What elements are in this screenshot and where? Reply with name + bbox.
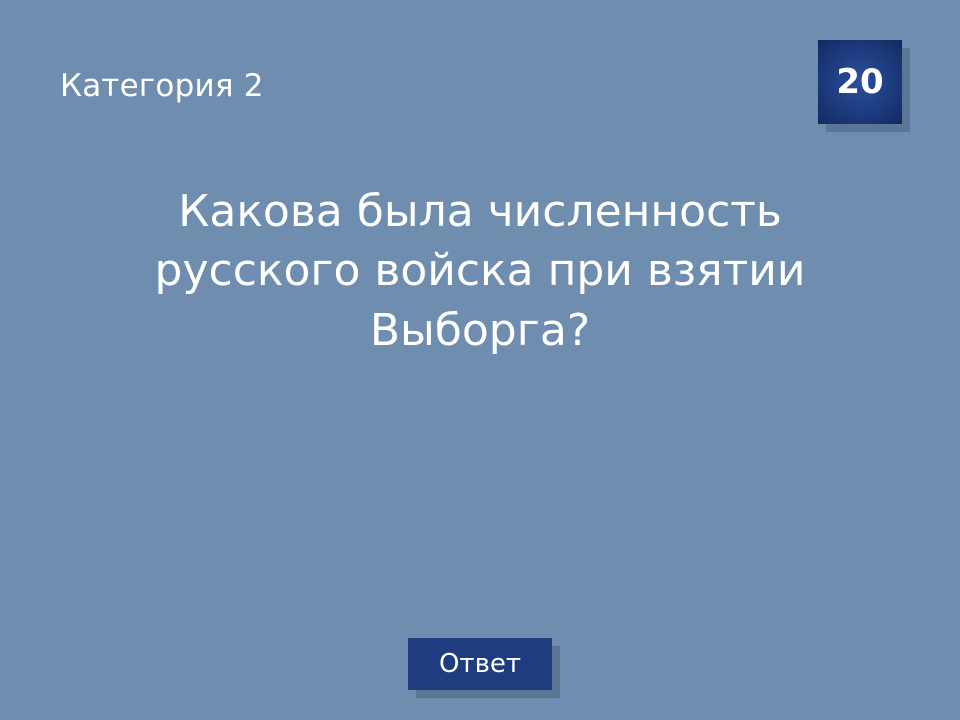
answer-button-wrapper: Ответ: [408, 638, 568, 700]
points-badge-box: 20: [818, 40, 902, 124]
question-text: Какова была численность русского войска …: [90, 182, 870, 360]
points-badge: 20: [818, 40, 910, 132]
answer-button-label: Ответ: [439, 651, 521, 677]
quiz-slide: Категория 2 20 Какова была численность р…: [0, 0, 960, 720]
category-title: Категория 2: [60, 68, 760, 104]
points-value: 20: [836, 65, 883, 99]
answer-button[interactable]: Ответ: [408, 638, 552, 690]
